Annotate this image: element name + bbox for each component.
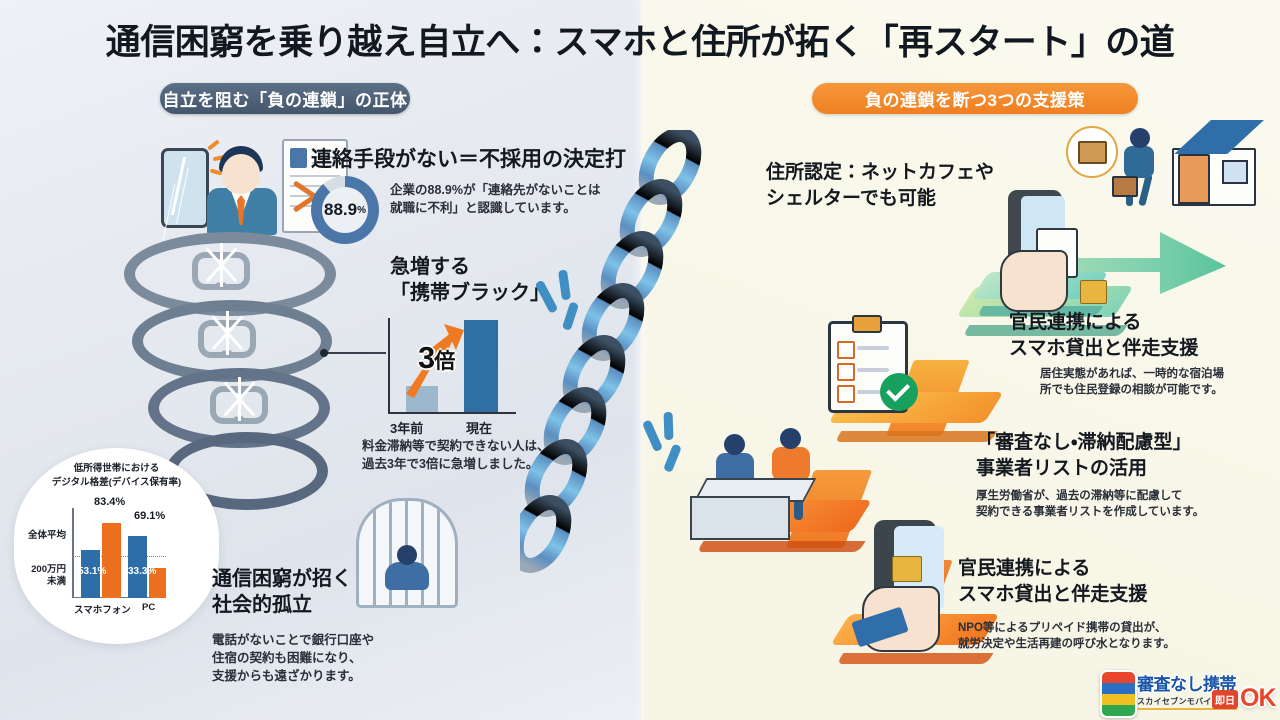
right-block4-body: NPO等によるプリペイド携帯の貸出が、 就労決定や生活再建の呼び水となります。 (958, 620, 1175, 653)
infographic-canvas: 通信困窮を乗り越え自立へ：スマホと住所が拓く「再スタート」の道 自立を阻む「負の… (0, 0, 1280, 720)
social-isolation-cage-illustration (356, 498, 458, 608)
value-label-69-1: 69.1% (134, 510, 165, 522)
left-section-badge: 自立を阻む「負の連鎖」の正体 (160, 83, 410, 114)
category-label-smartphone: スマホフォン (74, 602, 131, 616)
broken-phone-icon (161, 148, 209, 228)
bar-label-present: 現在 (466, 418, 492, 437)
right-block3-body: 厚生労働省が、過去の滞納等に配慮して 契約できる事業者リストを作成しています。 (976, 488, 1204, 521)
job-seeker-illustration (205, 140, 279, 235)
logo-secondary-text: スカイセブンモバイル (1137, 696, 1220, 707)
legend-overall-average: 全体平均 (18, 530, 66, 542)
stat-value: 88.9 (324, 200, 357, 220)
approved-checklist-illustration (828, 315, 902, 407)
value-label-83-4: 83.4% (94, 496, 125, 508)
house-icon (1166, 120, 1260, 202)
page-title: 通信困窮を乗り越え自立へ：スマホと住所が拓く「再スタート」の道 (0, 14, 1280, 65)
digital-divide-chart: 低所得世帯における デジタル格差(デバイス保有率) 全体平均 200万円未満 8… (14, 448, 219, 644)
legend-low-income: 200万円未満 (18, 564, 66, 589)
right-block2-heading: 官民連携による スマホ貸出と伴走支援 (1009, 310, 1198, 361)
logo-same-day-badge: 即日 (1212, 690, 1238, 709)
right-block1-heading: 住所認定：ネットカフェや シェルターでも可能 (766, 160, 994, 211)
left-block3-body: 電話がないことで銀行口座や 住宿の契約も困難になり、 支援からも遠ざかります。 (212, 632, 374, 685)
value-label-33-3: 33.3% (128, 566, 156, 577)
sim-card-phone-illustration (1000, 190, 1086, 308)
right-block3-heading: 「審査なし・滞納配慮型」 事業者リストの活用 (976, 430, 1191, 481)
person-walking-illustration (1116, 128, 1164, 206)
bar-smartphone-overall (102, 523, 121, 598)
multiplier-label: 3倍 (418, 340, 454, 376)
logo-phone-icon (1100, 670, 1137, 718)
right-block4-heading: 官民連携による スマホ貸出と伴走支援 (958, 556, 1147, 607)
consultation-desk-illustration (690, 420, 840, 540)
logo-ok-text: OK (1240, 684, 1276, 713)
digital-divide-chart-title: 低所得世帯における デジタル格差(デバイス保有率) (14, 462, 219, 490)
breaking-chain-illustration (520, 130, 710, 600)
brand-logo[interactable]: 審査なし携帯 スカイセブンモバイル 即日 OK (1100, 668, 1276, 716)
callout-leader-line (324, 352, 386, 354)
prepaid-phone-illustration (860, 520, 964, 648)
bar-label-3-years-ago: 3年前 (390, 418, 423, 437)
right-section-badge: 負の連鎖を断つ3つの支援策 (812, 83, 1138, 114)
right-block2-body: 居住実態があれば、一時的な宿泊場 所でも住民登録の相談が可能です。 (1040, 366, 1224, 399)
employment-thought-bubble (1066, 126, 1118, 178)
value-label-53-1: 53.1% (78, 566, 106, 577)
left-block3-heading: 通信困窮が招く 社会的孤立 (212, 566, 352, 619)
category-label-pc: PC (142, 602, 155, 613)
stat-unit: % (357, 205, 366, 216)
check-icon (880, 373, 918, 411)
